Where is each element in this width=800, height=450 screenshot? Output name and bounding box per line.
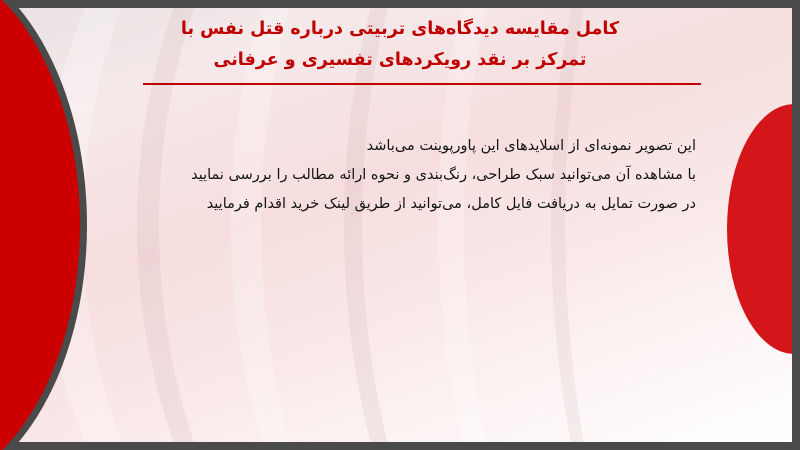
slide-body-text: این تصویر نمونه‌ای از اسلایدهای این پاور… [78,132,696,219]
body-line-1: این تصویر نمونه‌ای از اسلایدهای این پاور… [78,132,696,161]
slide-canvas: کامل مقایسه دیدگاه‌های تربیتی درباره قتل… [0,0,800,450]
slide-sheet: کامل مقایسه دیدگاه‌های تربیتی درباره قتل… [8,8,792,442]
slide-title: کامل مقایسه دیدگاه‌های تربیتی درباره قتل… [104,14,696,76]
title-underline-rule [143,83,701,85]
body-line-2: با مشاهده آن می‌توانید سبک طراحی، رنگ‌بن… [78,161,696,190]
slide-title-line-1: کامل مقایسه دیدگاه‌های تربیتی درباره قتل… [104,14,696,45]
right-red-ellipse-decoration [727,104,792,354]
left-red-ellipse-decoration [0,0,80,450]
slide-title-line-2: تمرکز بر نقد رویکردهای تفسیری و عرفانی [104,45,696,76]
body-line-3: در صورت تمایل به دریافت فایل کامل، می‌تو… [78,190,696,219]
left-decoration-clip [0,0,100,450]
